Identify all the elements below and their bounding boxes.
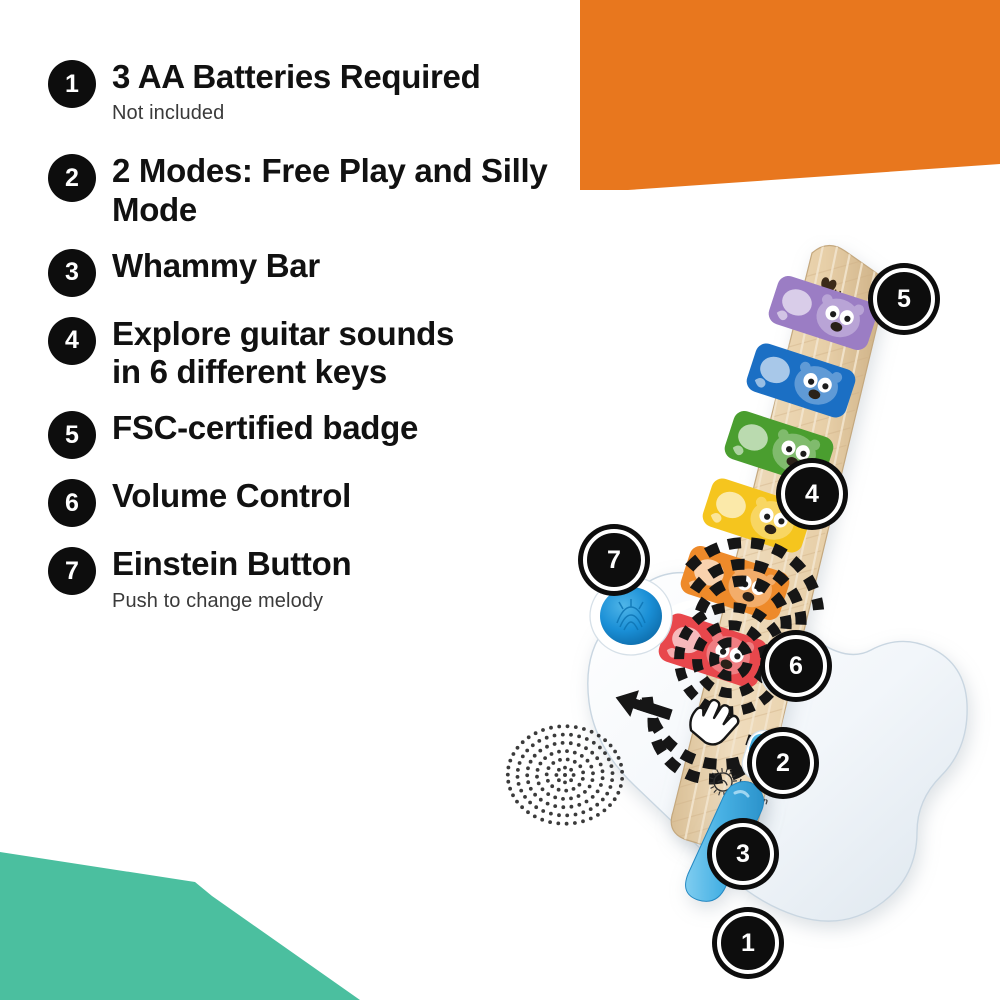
callout-5[interactable]: 5	[873, 268, 935, 330]
callout-6[interactable]: 6	[765, 635, 827, 697]
feature-text-1: 3 AA Batteries Required Not included	[112, 58, 628, 126]
feature-badge-2: 2	[48, 154, 96, 202]
callout-2[interactable]: 2	[752, 732, 814, 794]
feature-text-2: 2 Modes: Free Play and Silly Mode	[112, 152, 628, 229]
orange-corner-shape	[580, 0, 1000, 190]
callout-7[interactable]: 7	[583, 529, 645, 591]
callout-1[interactable]: 1	[717, 912, 779, 974]
feature-item-1: 1 3 AA Batteries Required Not included	[48, 58, 628, 126]
callout-3[interactable]: 3	[712, 823, 774, 885]
feature-subtitle-1: Not included	[112, 100, 628, 126]
feature-badge-6: 6	[48, 479, 96, 527]
feature-title-2: 2 Modes: Free Play and Silly Mode	[112, 152, 628, 229]
teal-corner-shape	[0, 820, 420, 1000]
feature-badge-4: 4	[48, 317, 96, 365]
infographic-canvas: (function(){ var d = JSON.parse(document…	[0, 0, 1000, 1000]
speaker-grille	[506, 724, 624, 825]
feature-item-2: 2 2 Modes: Free Play and Silly Mode	[48, 152, 628, 229]
spacer	[48, 130, 628, 152]
callout-4[interactable]: 4	[781, 463, 843, 525]
feature-title-1: 3 AA Batteries Required	[112, 58, 628, 96]
feature-badge-5: 5	[48, 411, 96, 459]
feature-badge-3: 3	[48, 249, 96, 297]
feature-badge-7: 7	[48, 547, 96, 595]
product-image-guitar: Hape	[455, 235, 1000, 975]
feature-badge-1: 1	[48, 60, 96, 108]
